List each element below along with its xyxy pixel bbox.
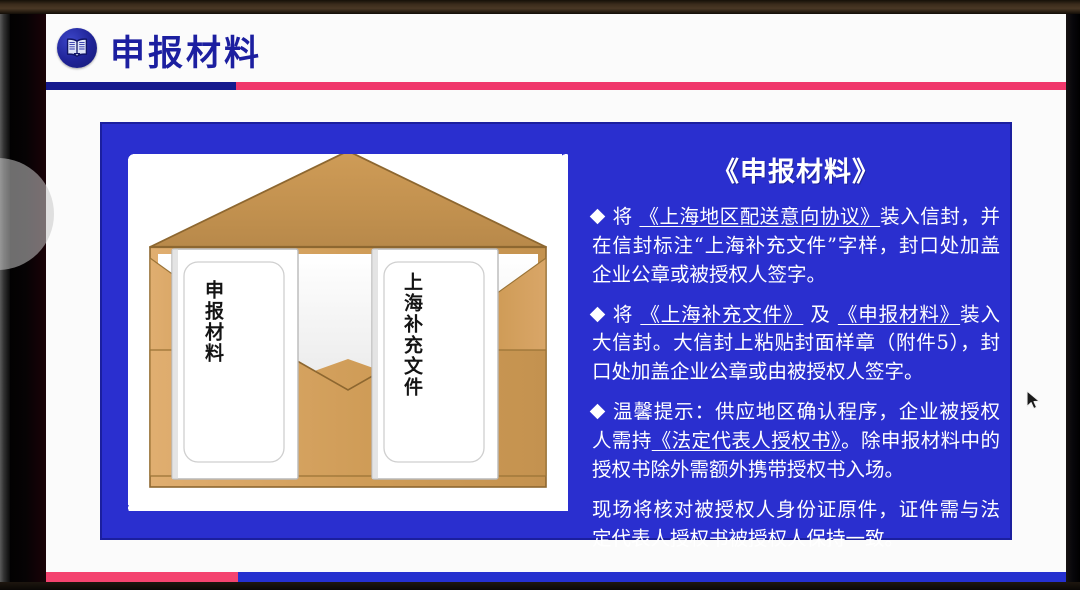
envelope-artwork bbox=[128, 154, 568, 511]
bullet-item-1: 将 《上海地区配送意向协议》装入信封，并在信封标注“上海补充文件”字样，封口处加… bbox=[592, 203, 1000, 290]
screen-bezel-top bbox=[0, 0, 1080, 14]
slide-header: 申报材料 bbox=[46, 14, 1066, 80]
header-divider-blue-segment bbox=[46, 82, 236, 90]
photographed-screen: 申报材料 bbox=[0, 0, 1080, 590]
footer-divider bbox=[46, 572, 1066, 582]
header-divider bbox=[46, 82, 1066, 90]
slide-page: 申报材料 bbox=[46, 14, 1066, 582]
open-book-glyph bbox=[65, 37, 89, 59]
diamond-bullet-icon bbox=[590, 404, 606, 420]
open-book-icon bbox=[57, 28, 97, 68]
screen-bezel-left-sheen bbox=[0, 0, 10, 590]
diamond-bullet-icon bbox=[590, 306, 606, 322]
screen-bezel-bottom bbox=[0, 582, 1080, 590]
screen-bezel-right bbox=[1066, 0, 1080, 590]
bullet-1-seg-0: 将 bbox=[612, 205, 639, 228]
cursor-arrow-icon bbox=[1026, 390, 1042, 412]
page-title: 申报材料 bbox=[110, 25, 262, 76]
footer-divider-blue-segment bbox=[238, 572, 1066, 582]
diamond-bullet-icon bbox=[590, 209, 606, 225]
bullet-2-seg-2: 及 bbox=[803, 303, 838, 326]
bullet-2-seg-0: 将 bbox=[612, 303, 640, 326]
mouse-pointer bbox=[1026, 390, 1042, 417]
document-card-label-buchong: 上海补充文件 bbox=[401, 272, 421, 398]
content-panel: 申报材料 上海补充文件 《申报材料》 将 《上海地区配送意向协议》装入信封，并在… bbox=[100, 122, 1012, 540]
bullet-2-seg-3: 《申报材料》 bbox=[838, 303, 960, 326]
bullet-1-seg-1: 《上海地区配送意向协议》 bbox=[639, 205, 880, 228]
envelope-illustration: 申报材料 上海补充文件 bbox=[128, 154, 568, 511]
document-card-label-shenbao: 申报材料 bbox=[202, 280, 222, 364]
closing-paragraph: 现场将核对被授权人身份证原件，证件需与法定代表人授权书被授权人保持一致。 bbox=[592, 496, 1000, 554]
footer-divider-pink-segment bbox=[46, 572, 238, 582]
panel-heading: 《申报材料》 bbox=[592, 150, 1000, 189]
bullet-2-seg-1: 《上海补充文件》 bbox=[640, 303, 803, 326]
bullet-item-2: 将 《上海补充文件》 及 《申报材料》装入大信封。大信封上粘贴封面样章（附件5）… bbox=[592, 301, 1000, 388]
instructions-column: 《申报材料》 将 《上海地区配送意向协议》装入信封，并在信封标注“上海补充文件”… bbox=[592, 144, 1000, 524]
bullet-3-seg-1: 《法定代表人授权书》 bbox=[652, 429, 841, 452]
header-divider-pink-segment bbox=[236, 82, 1066, 90]
bullet-item-3: 温馨提示：供应地区确认程序，企业被授权人需持《法定代表人授权书》。除申报材料中的… bbox=[592, 398, 1000, 485]
